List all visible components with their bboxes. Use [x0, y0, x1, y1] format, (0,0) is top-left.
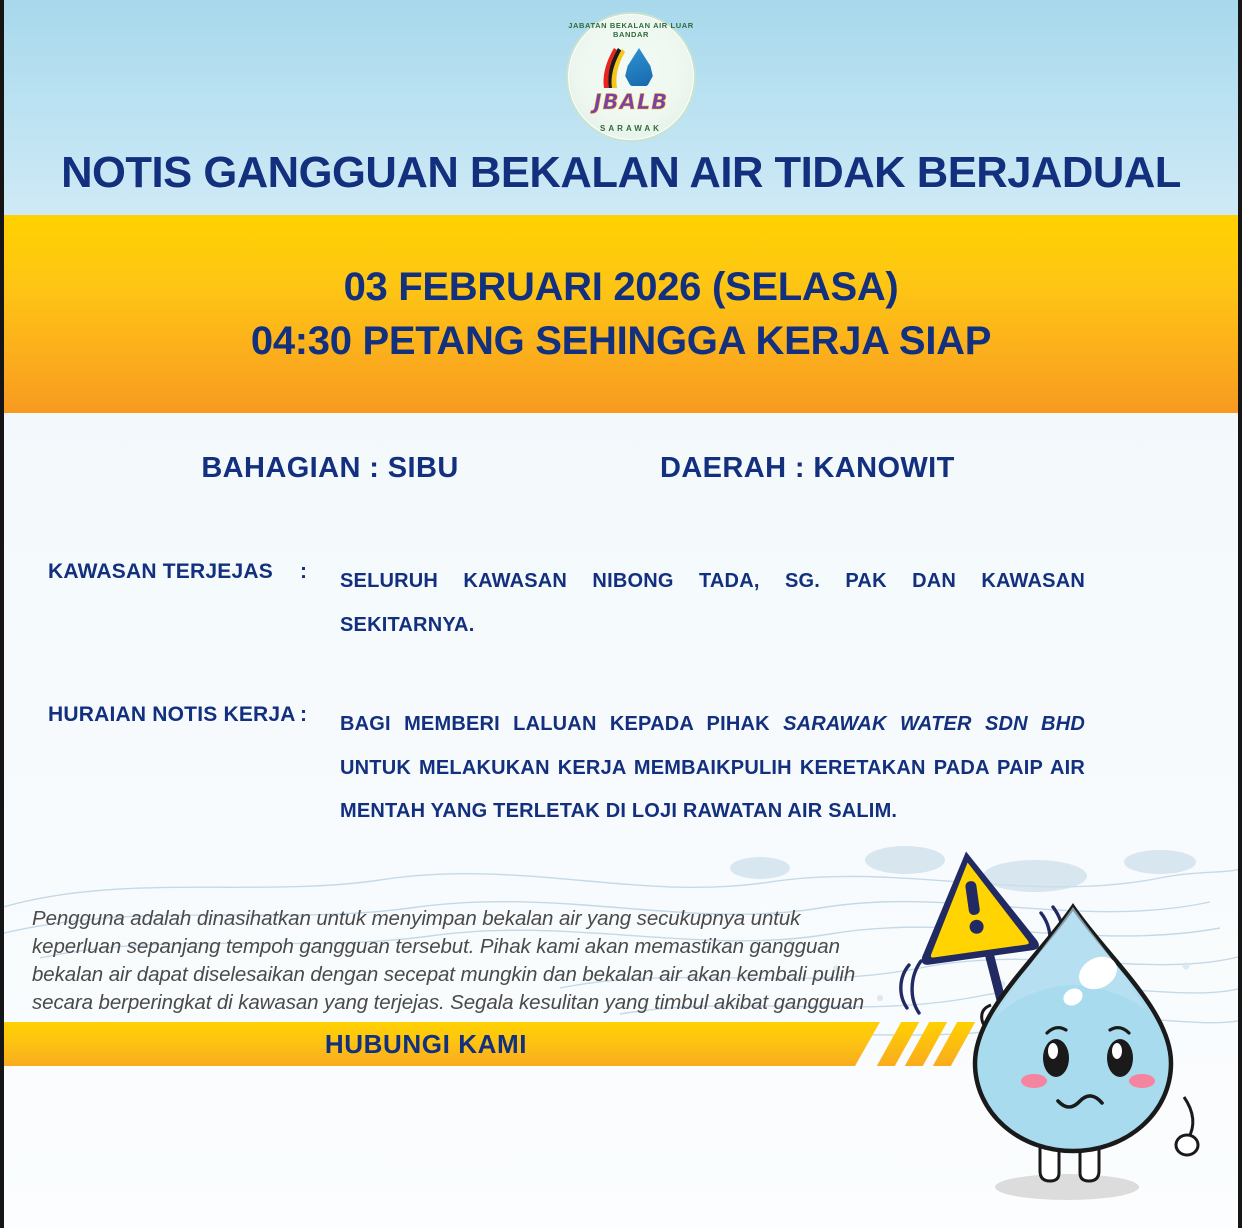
- division-label: BAHAGIAN : SIBU: [0, 452, 660, 485]
- work-desc-company: SARAWAK WATER SDN BHD: [783, 713, 1085, 735]
- logo-wordmark: JBALB: [566, 90, 696, 114]
- water-drop-mascot: [895, 845, 1242, 1228]
- contact-banner-label: HUBUNGI KAMI: [325, 1029, 527, 1060]
- contact-banner: HUBUNGI KAMI: [0, 1022, 900, 1066]
- notice-poster: JABATAN BEKALAN AIR LUAR BANDAR SARAWAK …: [0, 0, 1242, 1228]
- affected-areas-colon: :: [300, 560, 340, 647]
- header-band: JABATAN BEKALAN AIR LUAR BANDAR SARAWAK …: [0, 0, 1242, 215]
- district-label: DAERAH : KANOWIT: [660, 452, 1180, 485]
- work-description-row: HURAIAN NOTIS KERJA : BAGI MEMBERI LALUA…: [0, 703, 1085, 834]
- left-border: [0, 0, 4, 1228]
- date-time-band: 03 FEBRUARI 2026 (SELASA) 04:30 PETANG S…: [0, 215, 1242, 413]
- notice-date: 03 FEBRUARI 2026 (SELASA): [344, 260, 899, 314]
- logo-arc-top-text: JABATAN BEKALAN AIR LUAR BANDAR: [566, 21, 696, 39]
- work-description-value: BAGI MEMBERI LALUAN KEPADA PIHAK SARAWAK…: [340, 703, 1085, 834]
- right-border: [1238, 0, 1242, 1228]
- affected-areas-row: KAWASAN TERJEJAS : SELURUH KAWASAN NIBON…: [0, 560, 1085, 647]
- affected-areas-label: KAWASAN TERJEJAS: [0, 560, 300, 647]
- notice-time: 04:30 PETANG SEHINGGA KERJA SIAP: [251, 314, 991, 368]
- affected-areas-value: SELURUH KAWASAN NIBONG TADA, SG. PAK DAN…: [340, 560, 1085, 647]
- work-desc-part1: BAGI MEMBERI LALUAN KEPADA PIHAK: [340, 713, 783, 735]
- jbalb-logo: JABATAN BEKALAN AIR LUAR BANDAR SARAWAK …: [566, 12, 696, 142]
- work-description-colon: :: [300, 703, 340, 834]
- page-title: NOTIS GANGGUAN BEKALAN AIR TIDAK BERJADU…: [6, 148, 1236, 198]
- region-row: BAHAGIAN : SIBU DAERAH : KANOWIT: [0, 452, 1242, 485]
- work-description-label: HURAIAN NOTIS KERJA: [0, 703, 300, 834]
- logo-arc-bottom-text: SARAWAK: [566, 124, 696, 133]
- work-desc-part2: UNTUK MELAKUKAN KERJA MEMBAIKPULIH KERET…: [340, 757, 1085, 823]
